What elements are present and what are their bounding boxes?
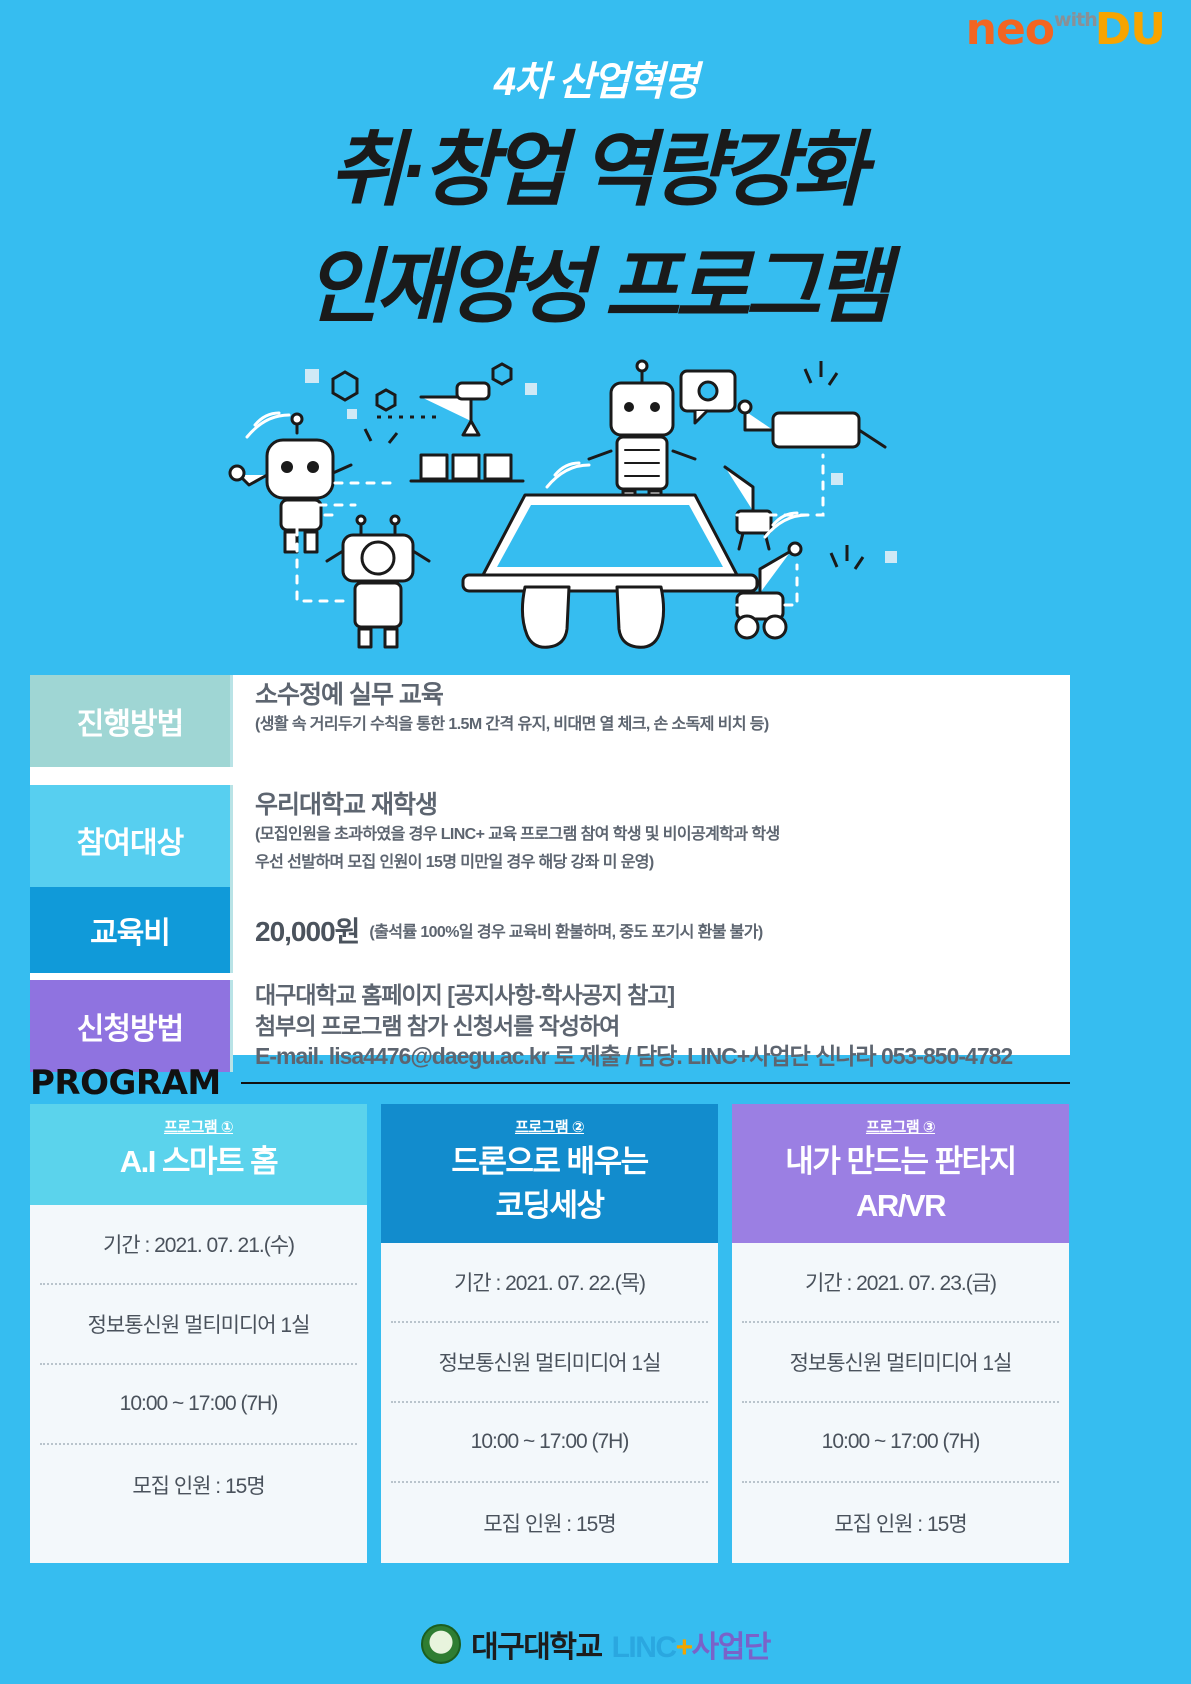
logo-with-text: with: [1054, 11, 1097, 30]
program-card-3-place: 정보통신원 멀티미디어 1실: [742, 1323, 1059, 1403]
program-card-1-head: 프로그램 ① A.I 스마트 홈: [30, 1104, 367, 1205]
footer-linc-logo: LINC+사업단: [612, 1622, 770, 1666]
program-card-2[interactable]: 프로그램 ② 드론으로 배우는 코딩세상 기간 : 2021. 07. 22.(…: [381, 1104, 718, 1563]
program-card-3-period: 기간 : 2021. 07. 23.(금): [742, 1243, 1059, 1323]
program-card-1[interactable]: 프로그램 ① A.I 스마트 홈 기간 : 2021. 07. 21.(수) 정…: [30, 1104, 367, 1563]
info-panel: 진행방법 소수정예 실무 교육 (생활 속 거리두기 수칙을 통한 1.5M 간…: [30, 675, 1070, 1055]
info-row-fee: 교육비 20,000원 (출석률 100%일 경우 교육비 환불하며, 중도 포…: [30, 887, 1070, 973]
program-card-1-place: 정보통신원 멀티미디어 1실: [40, 1285, 357, 1365]
apply-line-1: 대구대학교 홈페이지 [공지사항-학사공지 참고]: [255, 980, 1070, 1011]
info-method-main: 소수정예 실무 교육: [255, 675, 1070, 711]
program-card-3-title-2: AR/VR: [732, 1187, 1069, 1225]
footer-linc-plus: +: [676, 1631, 692, 1664]
program-card-2-title-2: 코딩세상: [381, 1187, 718, 1225]
program-card-3-time: 10:00 ~ 17:00 (7H): [742, 1403, 1059, 1483]
headline-line-1: 취·창업 역량강화: [0, 120, 1191, 223]
logo-neo-text: neo: [966, 8, 1054, 52]
program-card-1-time: 10:00 ~ 17:00 (7H): [40, 1365, 357, 1445]
logo-du-text: DU: [1095, 8, 1165, 52]
program-card-3-quota: 모집 인원 : 15명: [742, 1483, 1059, 1563]
headline-kicker: 4차 산업혁명: [0, 60, 1191, 104]
program-card-2-kicker: 프로그램 ②: [381, 1116, 718, 1137]
program-card-1-title: A.I 스마트 홈: [30, 1143, 367, 1181]
footer-university-name: 대구대학교: [471, 1622, 602, 1666]
robots-illustration: [225, 355, 985, 675]
info-label-fee: 교육비: [30, 887, 230, 973]
info-row-method: 진행방법 소수정예 실무 교육 (생활 속 거리두기 수칙을 통한 1.5M 간…: [30, 675, 1070, 767]
info-body-method: 소수정예 실무 교육 (생활 속 거리두기 수칙을 통한 1.5M 간격 유지,…: [230, 675, 1070, 767]
program-card-1-body: 기간 : 2021. 07. 21.(수) 정보통신원 멀티미디어 1실 10:…: [30, 1205, 367, 1525]
info-label-target: 참여대상: [30, 785, 230, 895]
info-target-main: 우리대학교 재학생: [255, 785, 1070, 821]
program-card-3-title: 내가 만드는 판타지: [732, 1143, 1069, 1181]
program-card-2-head: 프로그램 ② 드론으로 배우는 코딩세상: [381, 1104, 718, 1243]
program-card-3-head: 프로그램 ③ 내가 만드는 판타지 AR/VR: [732, 1104, 1069, 1243]
program-card-1-kicker: 프로그램 ①: [30, 1116, 367, 1137]
program-cards: 프로그램 ① A.I 스마트 홈 기간 : 2021. 07. 21.(수) 정…: [30, 1104, 1070, 1563]
program-heading-text: PROGRAM: [30, 1063, 221, 1103]
program-card-3-kicker: 프로그램 ③: [732, 1116, 1069, 1137]
program-card-1-period: 기간 : 2021. 07. 21.(수): [40, 1205, 357, 1285]
program-card-2-time: 10:00 ~ 17:00 (7H): [391, 1403, 708, 1483]
neo-with-du-logo: neo with DU: [966, 8, 1165, 52]
info-row-target: 참여대상 우리대학교 재학생 (모집인원을 초과하였을 경우 LINC+ 교육 …: [30, 785, 1070, 895]
program-card-2-period: 기간 : 2021. 07. 22.(목): [391, 1243, 708, 1323]
apply-line-2: 첨부의 프로그램 참가 신청서를 작성하여: [255, 1011, 1070, 1042]
program-card-3-body: 기간 : 2021. 07. 23.(금) 정보통신원 멀티미디어 1실 10:…: [732, 1243, 1069, 1563]
footer: 대구대학교 LINC+사업단: [0, 1622, 1191, 1666]
program-card-2-quota: 모집 인원 : 15명: [391, 1483, 708, 1563]
program-card-2-body: 기간 : 2021. 07. 22.(목) 정보통신원 멀티미디어 1실 10:…: [381, 1243, 718, 1563]
program-card-3[interactable]: 프로그램 ③ 내가 만드는 판타지 AR/VR 기간 : 2021. 07. 2…: [732, 1104, 1069, 1563]
university-emblem-icon: [421, 1624, 461, 1664]
footer-linc-text: LINC: [612, 1631, 676, 1664]
program-card-2-place: 정보통신원 멀티미디어 1실: [391, 1323, 708, 1403]
info-row-apply: 신청방법 대구대학교 홈페이지 [공지사항-학사공지 참고] 첨부의 프로그램 …: [30, 980, 1070, 1072]
info-body-fee: 20,000원 (출석률 100%일 경우 교육비 환불하며, 중도 포기시 환…: [230, 887, 1070, 973]
info-method-sub: (생활 속 거리두기 수칙을 통한 1.5M 간격 유지, 비대면 열 체크, …: [255, 711, 1070, 739]
info-label-method: 진행방법: [30, 675, 230, 767]
fee-note: (출석률 100%일 경우 교육비 환불하며, 중도 포기시 환불 불가): [369, 918, 762, 942]
program-heading-rule: [241, 1082, 1070, 1084]
info-target-sub-2: 우선 선발하며 모집 인원이 15명 미만일 경우 해당 강좌 미 운영): [255, 849, 1070, 877]
program-heading: PROGRAM: [30, 1063, 1070, 1103]
footer-org-text: 사업단: [692, 1631, 770, 1664]
headline-line-2: 인재양성 프로그램: [0, 237, 1191, 340]
info-body-target: 우리대학교 재학생 (모집인원을 초과하였을 경우 LINC+ 교육 프로그램 …: [230, 785, 1070, 895]
info-label-apply: 신청방법: [30, 980, 230, 1072]
poster-root: neo with DU 4차 산업혁명 취·창업 역량강화 인재양성 프로그램: [0, 0, 1191, 1684]
fee-amount: 20,000원: [255, 910, 359, 950]
headline-block: 4차 산업혁명 취·창업 역량강화 인재양성 프로그램: [0, 60, 1191, 339]
program-card-2-title: 드론으로 배우는: [381, 1143, 718, 1181]
info-body-apply: 대구대학교 홈페이지 [공지사항-학사공지 참고] 첨부의 프로그램 참가 신청…: [230, 980, 1070, 1072]
program-card-1-quota: 모집 인원 : 15명: [40, 1445, 357, 1525]
info-target-sub-1: (모집인원을 초과하였을 경우 LINC+ 교육 프로그램 참여 학생 및 비이…: [255, 821, 1070, 849]
